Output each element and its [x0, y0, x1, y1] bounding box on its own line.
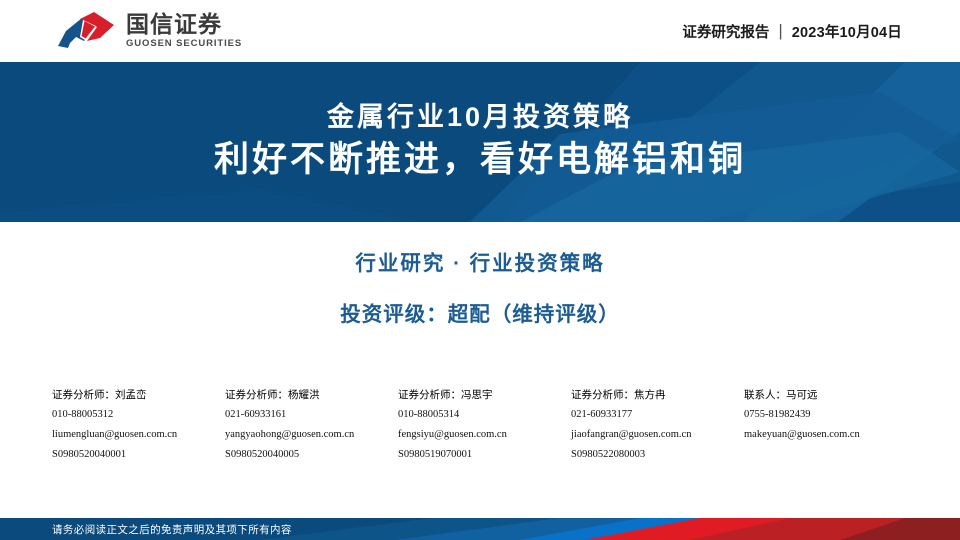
- brand-name-en: GUOSEN SECURITIES: [126, 38, 242, 50]
- hero-banner: 金属行业10月投资策略 利好不断推进，看好电解铝和铜: [0, 62, 960, 222]
- investment-rating: 投资评级：超配（维持评级）: [340, 297, 620, 327]
- brand-text-block: 国信证券 GUOSEN SECURITIES: [126, 12, 242, 50]
- analyst-email[interactable]: yangyaohong@guosen.com.cn: [225, 425, 398, 445]
- analyst-email[interactable]: fengsiyu@guosen.com.cn: [398, 425, 571, 445]
- report-subtitle: 利好不断推进，看好电解铝和铜: [214, 141, 746, 180]
- analyst-license: S0980520040001: [52, 445, 225, 465]
- brand-logo: 国信证券 GUOSEN SECURITIES: [56, 10, 242, 52]
- contact-phone[interactable]: 0755-81982439: [744, 405, 917, 425]
- contact-name: 联系人：马可远: [744, 385, 917, 405]
- report-title: 金属行业10月投资策略: [327, 104, 633, 131]
- research-category: 行业研究 · 行业投资策略: [355, 246, 604, 276]
- report-meta-section: 行业研究 · 行业投资策略 投资评级：超配（维持评级）: [0, 222, 960, 372]
- analyst-name: 证券分析师：杨耀洪: [225, 385, 398, 405]
- analyst-phone[interactable]: 010-88005312: [52, 405, 225, 425]
- brand-name-cn: 国信证券: [126, 12, 242, 36]
- analyst-column: 证券分析师：刘孟峦 010-88005312 liumengluan@guose…: [52, 385, 225, 466]
- analyst-email[interactable]: liumengluan@guosen.com.cn: [52, 425, 225, 445]
- analyst-name: 证券分析师：焦方冉: [571, 385, 744, 405]
- report-cover-page: 国信证券 GUOSEN SECURITIES 证券研究报告 | 2023年10月…: [0, 0, 960, 540]
- analyst-contact-list: 证券分析师：刘孟峦 010-88005312 liumengluan@guose…: [52, 385, 918, 466]
- contact-email[interactable]: makeyuan@guosen.com.cn: [744, 425, 917, 445]
- footer-disclaimer: 请务必阅读正文之后的免责声明及其项下所有内容: [52, 518, 292, 540]
- analyst-name: 证券分析师：刘孟峦: [52, 385, 225, 405]
- analyst-license: S0980519070001: [398, 445, 571, 465]
- header-separator: |: [778, 21, 782, 41]
- guosen-mountain-logo-icon: [56, 10, 118, 52]
- analyst-phone[interactable]: 021-60933161: [225, 405, 398, 425]
- analyst-license: S0980520040005: [225, 445, 398, 465]
- contact-column: 联系人：马可远 0755-81982439 makeyuan@guosen.co…: [744, 385, 917, 466]
- analyst-column: 证券分析师：冯思宇 010-88005314 fengsiyu@guosen.c…: [398, 385, 571, 466]
- report-type-label: 证券研究报告: [682, 21, 769, 42]
- analyst-email[interactable]: jiaofangran@guosen.com.cn: [571, 425, 744, 445]
- analyst-phone[interactable]: 021-60933177: [571, 405, 744, 425]
- analyst-phone[interactable]: 010-88005314: [398, 405, 571, 425]
- report-date: 2023年10月04日: [792, 21, 902, 42]
- header-meta: 证券研究报告 | 2023年10月04日: [682, 21, 902, 42]
- analyst-license: S0980522080003: [571, 445, 744, 465]
- analyst-column: 证券分析师：焦方冉 021-60933177 jiaofangran@guose…: [571, 385, 744, 466]
- page-footer: 请务必阅读正文之后的免责声明及其项下所有内容: [0, 518, 960, 540]
- analyst-name: 证券分析师：冯思宇: [398, 385, 571, 405]
- page-header: 国信证券 GUOSEN SECURITIES 证券研究报告 | 2023年10月…: [0, 0, 960, 62]
- analyst-column: 证券分析师：杨耀洪 021-60933161 yangyaohong@guose…: [225, 385, 398, 466]
- hero-text-block: 金属行业10月投资策略 利好不断推进，看好电解铝和铜: [0, 62, 960, 222]
